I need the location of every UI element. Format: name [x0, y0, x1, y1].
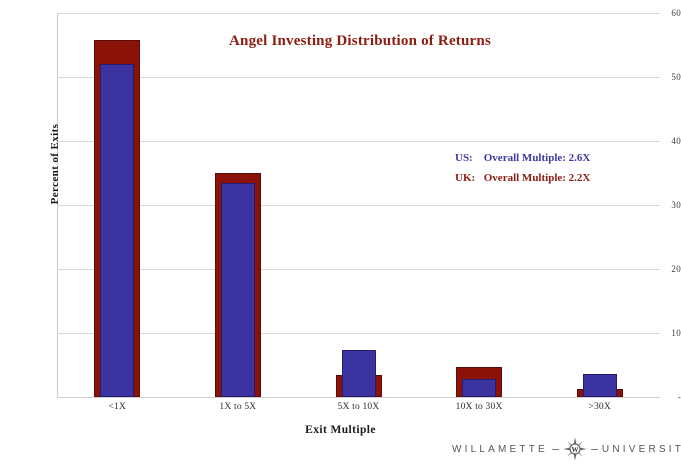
gridline-0 — [57, 397, 660, 398]
legend: US: Overall Multiple: 2.6X UK: Overall M… — [455, 148, 590, 188]
bar-us-10X to 30X — [462, 379, 496, 397]
chart-container: Angel Investing Distribution of Returns … — [0, 0, 681, 466]
legend-item-uk: UK: Overall Multiple: 2.2X — [455, 168, 590, 188]
y-axis-title: Percent of Exits — [49, 104, 61, 224]
bar-group — [57, 13, 660, 397]
x-axis-label-<1X: <1X — [57, 402, 178, 412]
x-axis-title: Exit Multiple — [0, 424, 681, 436]
x-axis-label-1X to 5X: 1X to 5X — [178, 402, 299, 412]
logo-right-word: UNIVERSITY — [602, 444, 681, 455]
chart-title: Angel Investing Distribution of Returns — [140, 33, 580, 50]
compass-emblem-icon: W — [563, 437, 587, 461]
logo-left-word: WILLAMETTE — [452, 444, 548, 455]
legend-us-text: Overall Multiple: 2.6X — [484, 152, 591, 164]
x-axis-label->30X: >30X — [539, 402, 660, 412]
logo-right-dash — [591, 449, 598, 450]
y-tick-label-20: 20 — [635, 264, 681, 274]
bar-us-5X to 10X — [342, 350, 376, 397]
y-tick-label-40: 40 — [635, 136, 681, 146]
legend-us-key: US: — [455, 148, 481, 168]
bar-us->30X — [583, 374, 617, 397]
willamette-university-logo: WILLAMETTE W UNIVERSITY — [452, 437, 681, 461]
y-tick-label-60: 60 — [635, 8, 681, 18]
legend-uk-key: UK: — [455, 168, 481, 188]
y-tick-label-10: 10 — [635, 328, 681, 338]
y-tick-label-0: - — [635, 392, 681, 402]
logo-emblem-letter: W — [571, 446, 578, 454]
y-tick-label-50: 50 — [635, 72, 681, 82]
plot-area — [57, 13, 660, 397]
logo-left-dash — [552, 449, 559, 450]
y-tick-label-30: 30 — [635, 200, 681, 210]
bar-us-1X to 5X — [221, 183, 255, 397]
x-axis-label-10X to 30X: 10X to 30X — [419, 402, 540, 412]
legend-item-us: US: Overall Multiple: 2.6X — [455, 148, 590, 168]
bar-us-<1X — [100, 64, 134, 397]
x-axis-label-5X to 10X: 5X to 10X — [298, 402, 419, 412]
legend-uk-text: Overall Multiple: 2.2X — [484, 172, 591, 184]
